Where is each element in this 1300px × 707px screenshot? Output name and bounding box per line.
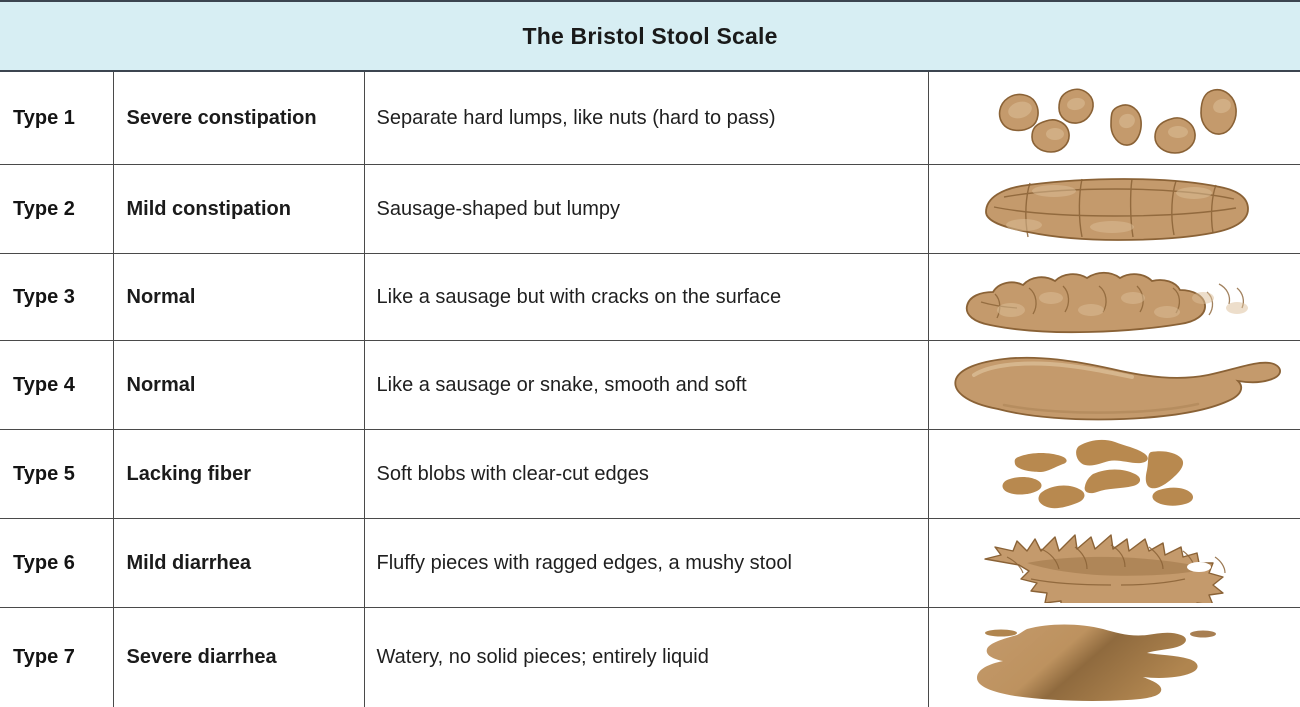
description-cell: Watery, no solid pieces; entirely liquid xyxy=(364,608,928,707)
page-title: The Bristol Stool Scale xyxy=(0,1,1300,71)
classification-label: Normal xyxy=(115,374,363,397)
liquid-puddle-icon xyxy=(971,613,1257,703)
table-row: Type 1 Severe constipation Separate hard… xyxy=(0,71,1300,165)
description-cell: Sausage-shaped but lumpy xyxy=(364,165,928,254)
table-row: Type 6 Mild diarrhea Fluffy pieces with … xyxy=(0,519,1300,608)
table-header-row: The Bristol Stool Scale xyxy=(0,1,1300,71)
classification-cell: Severe constipation xyxy=(113,71,364,165)
type-cell: Type 5 xyxy=(0,430,113,519)
type-label: Type 3 xyxy=(1,286,112,309)
type-cell: Type 6 xyxy=(0,519,113,608)
table-row: Type 4 Normal Like a sausage or snake, s… xyxy=(0,341,1300,430)
illustration-cell xyxy=(928,254,1300,341)
classification-label: Mild constipation xyxy=(115,198,363,221)
description-label: Like a sausage but with cracks on the su… xyxy=(366,286,927,309)
separate-hard-lumps-icon xyxy=(964,76,1264,160)
classification-cell: Normal xyxy=(113,254,364,341)
description-cell: Fluffy pieces with ragged edges, a mushy… xyxy=(364,519,928,608)
type-cell: Type 2 xyxy=(0,165,113,254)
description-label: Sausage-shaped but lumpy xyxy=(366,198,927,221)
cracked-sausage-icon xyxy=(951,258,1277,336)
type-label: Type 5 xyxy=(1,463,112,486)
description-cell: Separate hard lumps, like nuts (hard to … xyxy=(364,71,928,165)
type-cell: Type 7 xyxy=(0,608,113,707)
classification-label: Severe constipation xyxy=(115,107,363,130)
illustration-cell xyxy=(928,608,1300,707)
type-cell: Type 3 xyxy=(0,254,113,341)
table-row: Type 3 Normal Like a sausage but with cr… xyxy=(0,254,1300,341)
type-label: Type 6 xyxy=(1,552,112,575)
description-label: Soft blobs with clear-cut edges xyxy=(366,463,927,486)
description-cell: Soft blobs with clear-cut edges xyxy=(364,430,928,519)
classification-cell: Mild constipation xyxy=(113,165,364,254)
table-row: Type 5 Lacking fiber Soft blobs with cle… xyxy=(0,430,1300,519)
soft-blobs-icon xyxy=(1001,434,1227,514)
illustration-cell xyxy=(928,519,1300,608)
type-label: Type 1 xyxy=(1,107,112,130)
classification-label: Normal xyxy=(115,286,363,309)
ragged-mushy-mass-icon xyxy=(971,523,1257,603)
illustration-cell xyxy=(928,430,1300,519)
classification-label: Severe diarrhea xyxy=(115,646,363,669)
illustration-cell xyxy=(928,165,1300,254)
smooth-snake-icon xyxy=(944,345,1284,425)
description-label: Separate hard lumps, like nuts (hard to … xyxy=(366,107,927,130)
description-label: Watery, no solid pieces; entirely liquid xyxy=(366,646,927,669)
type-label: Type 7 xyxy=(1,646,112,669)
illustration-cell xyxy=(928,71,1300,165)
description-label: Fluffy pieces with ragged edges, a mushy… xyxy=(366,552,927,575)
classification-cell: Normal xyxy=(113,341,364,430)
type-label: Type 2 xyxy=(1,198,112,221)
description-label: Like a sausage or snake, smooth and soft xyxy=(366,374,927,397)
bristol-stool-scale-table: The Bristol Stool Scale Type 1 Severe co… xyxy=(0,0,1300,707)
table-row: Type 7 Severe diarrhea Watery, no solid … xyxy=(0,608,1300,707)
type-cell: Type 4 xyxy=(0,341,113,430)
classification-cell: Lacking fiber xyxy=(113,430,364,519)
classification-label: Lacking fiber xyxy=(115,463,363,486)
lumpy-sausage-icon xyxy=(964,169,1264,249)
description-cell: Like a sausage but with cracks on the su… xyxy=(364,254,928,341)
classification-label: Mild diarrhea xyxy=(115,552,363,575)
classification-cell: Mild diarrhea xyxy=(113,519,364,608)
illustration-cell xyxy=(928,341,1300,430)
description-cell: Like a sausage or snake, smooth and soft xyxy=(364,341,928,430)
table-row: Type 2 Mild constipation Sausage-shaped … xyxy=(0,165,1300,254)
type-cell: Type 1 xyxy=(0,71,113,165)
classification-cell: Severe diarrhea xyxy=(113,608,364,707)
type-label: Type 4 xyxy=(1,374,112,397)
